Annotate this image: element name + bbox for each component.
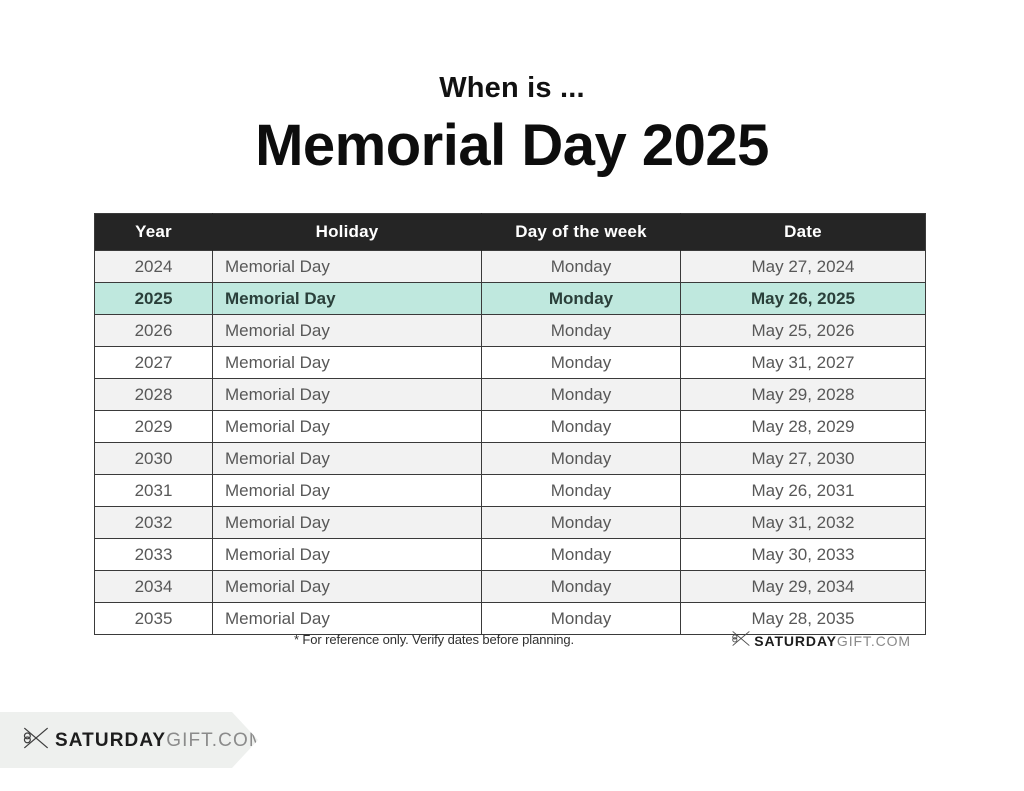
- cell-dow: Monday: [482, 411, 681, 443]
- brand-wordmark-small: SATURDAYGIFT.COM: [754, 634, 911, 648]
- brand-logo-small[interactable]: SATURDAYGIFT.COM: [731, 630, 911, 652]
- cell-dow: Monday: [482, 443, 681, 475]
- footnote-text: * For reference only. Verify dates befor…: [94, 632, 774, 647]
- cell-dow: Monday: [482, 283, 681, 315]
- cell-holiday: Memorial Day: [213, 475, 482, 507]
- cell-holiday: Memorial Day: [213, 283, 482, 315]
- cell-holiday: Memorial Day: [213, 443, 482, 475]
- cell-holiday: Memorial Day: [213, 347, 482, 379]
- cell-holiday: Memorial Day: [213, 315, 482, 347]
- cell-year: 2028: [95, 379, 213, 411]
- cell-year: 2032: [95, 507, 213, 539]
- column-header-day-of-the-week: Day of the week: [482, 214, 681, 251]
- table-row: 2032Memorial DayMondayMay 31, 2032: [95, 507, 926, 539]
- cell-holiday: Memorial Day: [213, 571, 482, 603]
- cell-year: 2033: [95, 539, 213, 571]
- cell-year: 2027: [95, 347, 213, 379]
- brand-name-light: GIFT.COM: [166, 730, 266, 751]
- table-row: 2028Memorial DayMondayMay 29, 2028: [95, 379, 926, 411]
- column-header-year: Year: [95, 214, 213, 251]
- cell-holiday: Memorial Day: [213, 507, 482, 539]
- table-row: 2034Memorial DayMondayMay 29, 2034: [95, 571, 926, 603]
- cell-dow: Monday: [482, 347, 681, 379]
- scissors-icon: [22, 726, 50, 755]
- cell-year: 2035: [95, 603, 213, 635]
- column-header-date: Date: [681, 214, 926, 251]
- table-body: 2024Memorial DayMondayMay 27, 20242025Me…: [95, 251, 926, 635]
- cell-dow: Monday: [482, 571, 681, 603]
- cell-year: 2034: [95, 571, 213, 603]
- table-row: 2033Memorial DayMondayMay 30, 2033: [95, 539, 926, 571]
- cell-date: May 31, 2032: [681, 507, 926, 539]
- brand-name-bold: SATURDAY: [55, 730, 166, 751]
- brand-name-bold-small: SATURDAY: [754, 633, 837, 649]
- cell-year: 2030: [95, 443, 213, 475]
- page-kicker: When is ...: [0, 74, 1024, 103]
- table-row: 2025Memorial DayMondayMay 26, 2025: [95, 283, 926, 315]
- cell-holiday: Memorial Day: [213, 539, 482, 571]
- column-header-holiday: Holiday: [213, 214, 482, 251]
- cell-holiday: Memorial Day: [213, 603, 482, 635]
- cell-date: May 26, 2031: [681, 475, 926, 507]
- cell-dow: Monday: [482, 315, 681, 347]
- cell-year: 2026: [95, 315, 213, 347]
- table-row: 2030Memorial DayMondayMay 27, 2030: [95, 443, 926, 475]
- table-row: 2031Memorial DayMondayMay 26, 2031: [95, 475, 926, 507]
- scissors-icon: [731, 630, 751, 652]
- cell-date: May 28, 2029: [681, 411, 926, 443]
- cell-dow: Monday: [482, 251, 681, 283]
- table-row: 2027Memorial DayMondayMay 31, 2027: [95, 347, 926, 379]
- cell-date: May 27, 2024: [681, 251, 926, 283]
- cell-date: May 26, 2025: [681, 283, 926, 315]
- brand-name-light-small: GIFT.COM: [837, 633, 911, 649]
- brand-wordmark: SATURDAYGIFT.COM: [55, 731, 266, 750]
- table-row: 2024Memorial DayMondayMay 27, 2024: [95, 251, 926, 283]
- table-header-row: Year Holiday Day of the week Date: [95, 214, 926, 251]
- cell-year: 2024: [95, 251, 213, 283]
- cell-holiday: Memorial Day: [213, 379, 482, 411]
- poster-page: When is ... Memorial Day 2025 Year Holid…: [0, 0, 1024, 791]
- cell-date: May 27, 2030: [681, 443, 926, 475]
- page-title: Memorial Day 2025: [0, 117, 1024, 175]
- cell-date: May 29, 2034: [681, 571, 926, 603]
- table-footer: * For reference only. Verify dates befor…: [94, 632, 925, 656]
- cell-date: May 31, 2027: [681, 347, 926, 379]
- cell-date: May 25, 2026: [681, 315, 926, 347]
- cell-holiday: Memorial Day: [213, 411, 482, 443]
- cell-dow: Monday: [482, 603, 681, 635]
- cell-dow: Monday: [482, 379, 681, 411]
- table-header: Year Holiday Day of the week Date: [95, 214, 926, 251]
- cell-dow: Monday: [482, 507, 681, 539]
- table-row: 2029Memorial DayMondayMay 28, 2029: [95, 411, 926, 443]
- cell-holiday: Memorial Day: [213, 251, 482, 283]
- holiday-table-container: Year Holiday Day of the week Date 2024Me…: [94, 213, 925, 635]
- cell-date: May 29, 2028: [681, 379, 926, 411]
- cell-year: 2025: [95, 283, 213, 315]
- cell-year: 2029: [95, 411, 213, 443]
- cell-dow: Monday: [482, 475, 681, 507]
- page-heading: When is ... Memorial Day 2025: [0, 74, 1024, 175]
- table-row: 2026Memorial DayMondayMay 25, 2026: [95, 315, 926, 347]
- cell-year: 2031: [95, 475, 213, 507]
- cell-date: May 30, 2033: [681, 539, 926, 571]
- brand-banner[interactable]: SATURDAYGIFT.COM: [0, 712, 258, 768]
- cell-dow: Monday: [482, 539, 681, 571]
- holiday-table: Year Holiday Day of the week Date 2024Me…: [94, 213, 926, 635]
